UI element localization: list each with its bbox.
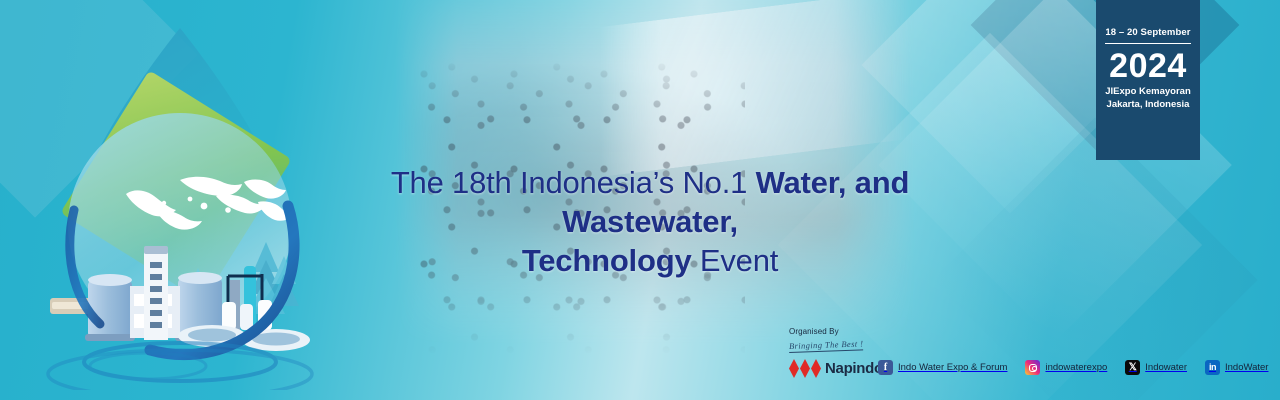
social-label-instagram: indowaterexpo [1045,362,1107,373]
linkedin-icon: in [1205,360,1220,375]
headline-line2-light: Event [691,243,778,278]
napindo-diamonds-icon [789,359,821,378]
x-twitter-icon: 𝕏 [1125,360,1140,375]
social-link-instagram[interactable]: indowaterexpo [1025,360,1107,375]
headline-line1-light: The 18th Indonesia’s No.1 [391,165,756,200]
napindo-name: Napindo [825,360,883,377]
organised-by-label: Organised By [789,327,949,336]
droplet-logo-svg [30,10,320,390]
instagram-icon [1025,360,1040,375]
headline-line2-bold: Technology [522,243,692,278]
event-venue-line1: JIExpo Kemayoran [1104,86,1192,98]
social-label-linkedin: IndoWater [1225,362,1268,373]
event-dates: 18 – 20 September [1105,27,1190,44]
social-label-facebook: Indo Water Expo & Forum [898,362,1007,373]
event-venue-line2: Jakarta, Indonesia [1104,99,1192,111]
social-link-linkedin[interactable]: in IndoWater [1205,360,1268,375]
event-year: 2024 [1104,47,1192,85]
organiser-tagline: Bringing The Best ! [789,338,864,353]
facebook-icon: f [878,360,893,375]
social-label-x-twitter: Indowater [1145,362,1187,373]
page-title: The 18th Indonesia’s No.1 Water, and Was… [300,163,1000,280]
social-link-facebook[interactable]: f Indo Water Expo & Forum [878,360,1007,375]
event-banner: The 18th Indonesia’s No.1 Water, and Was… [0,0,1280,400]
event-date-box: 18 – 20 September 2024 JIExpo Kemayoran … [1096,0,1200,160]
indo-water-logo [30,10,320,390]
social-link-x-twitter[interactable]: 𝕏 Indowater [1125,360,1187,375]
social-links: f Indo Water Expo & Forum indowaterexpo … [878,360,1268,375]
